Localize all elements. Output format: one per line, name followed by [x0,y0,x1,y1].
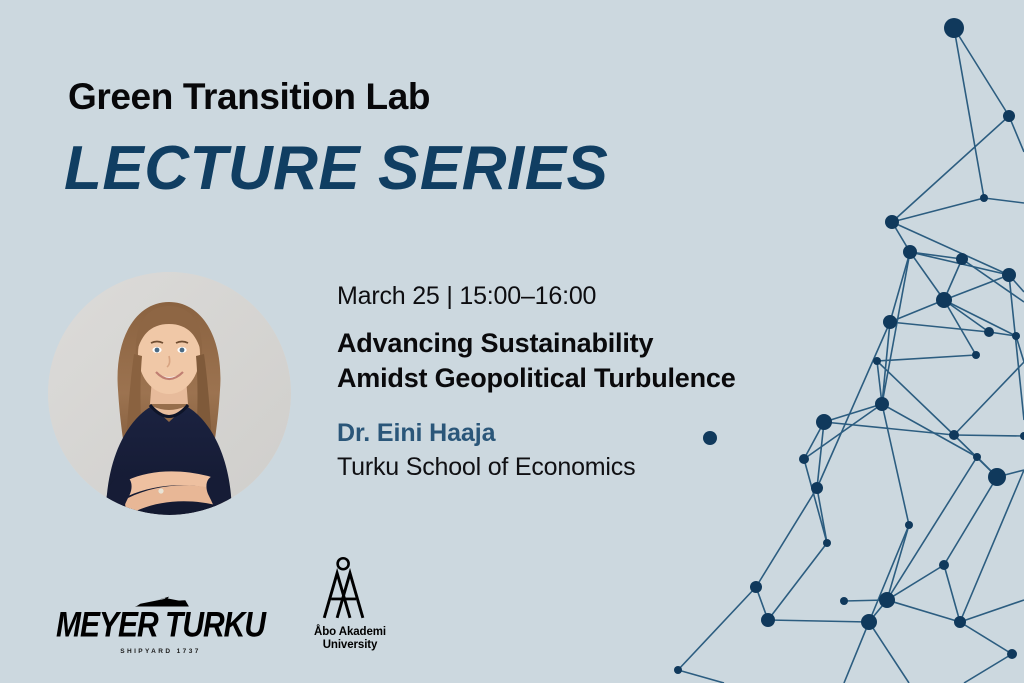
event-date-time: March 25 | 15:00–16:00 [337,282,757,311]
event-details: March 25 | 15:00–16:00 Advancing Sustain… [337,282,757,482]
meyer-turku-logo: MEYER TURKU SHIPYARD 1737 [56,593,265,655]
abo-akademi-monogram-icon [313,556,387,623]
speaker-name: Dr. Eini Haaja [337,419,757,448]
speaker-avatar [48,272,291,515]
abo-akademi-name: Åbo Akademi University [314,626,386,653]
sponsor-logo-bar: MEYER TURKU SHIPYARD 1737 Åbo Akademi Un… [56,556,387,655]
meyer-turku-tagline: SHIPYARD 1737 [120,648,200,655]
abo-akademi-name-line2: University [314,639,386,653]
abo-akademi-name-line1: Åbo Akademi [314,626,386,640]
abo-akademi-logo: Åbo Akademi University [313,556,387,655]
meyer-turku-wordmark: MEYER TURKU [56,608,265,643]
page-title: LECTURE SERIES [64,133,608,204]
event-topic: Advancing Sustainability Amidst Geopolit… [337,326,747,395]
speaker-affiliation: Turku School of Economics [337,453,757,482]
lecture-series-poster: Green Transition Lab LECTURE SERIES [0,0,1024,683]
program-kicker: Green Transition Lab [68,76,430,118]
